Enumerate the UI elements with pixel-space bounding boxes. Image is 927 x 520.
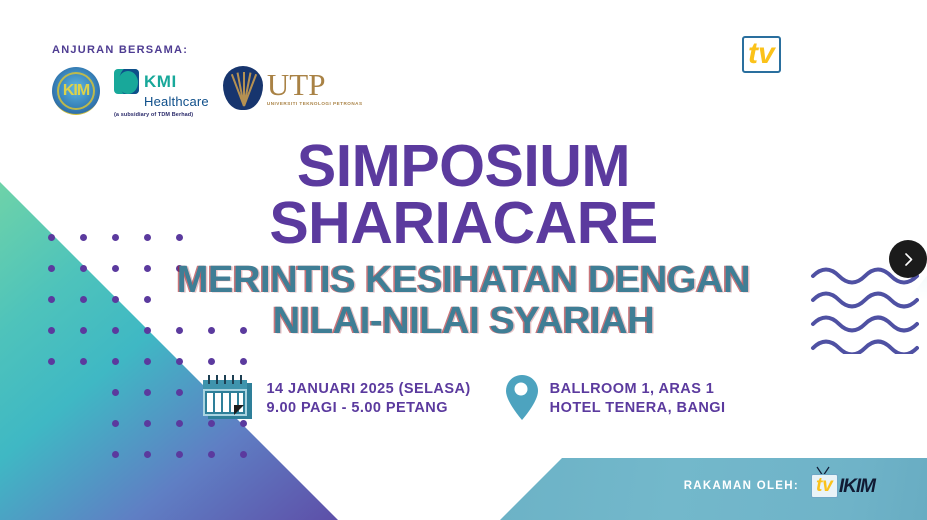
kmi-mark-icon — [114, 69, 139, 94]
tv-box: tv — [811, 474, 838, 498]
footer-credit-label: RAKAMAN OLEH: — [684, 480, 799, 492]
title-line-1: SIMPOSIUM — [0, 138, 927, 195]
event-venue-line-1: BALLROOM 1, ARAS 1 — [550, 380, 726, 399]
tvikim-logo-footer: tv IKIM — [811, 474, 875, 498]
organisers-label: ANJURAN BERSAMA: — [52, 44, 363, 56]
event-venue-item: BALLROOM 1, ARAS 1 HOTEL TENERA, BANGI — [505, 374, 726, 421]
tv-wordmark: tv — [816, 476, 833, 495]
subtitle-line-1: MERINTIS KESIHATAN DENGAN — [0, 260, 927, 300]
kmi-brand: KMI — [144, 73, 177, 90]
ikim-wordmark: IKIM — [783, 40, 842, 70]
kwsp-seal-logo: KIM — [52, 67, 100, 115]
utp-mark-icon — [223, 66, 263, 110]
event-date-text: 14 JANUARI 2025 (SELASA) 9.00 PAGI - 5.0… — [266, 374, 470, 418]
organisers-block: ANJURAN BERSAMA: KIM KMI Healthcare (a s… — [52, 44, 363, 118]
subtitle-line-2: NILAI-NILAI SYARIAH — [0, 301, 927, 341]
ikim-wordmark: IKIM — [839, 477, 875, 496]
headline-block: SIMPOSIUM SHARIACARE MERINTIS KESIHATAN … — [0, 138, 927, 341]
calendar-icon — [201, 374, 255, 421]
kmi-wordmark: Healthcare — [144, 95, 209, 109]
event-date-line-1: 14 JANUARI 2025 (SELASA) — [266, 380, 470, 399]
location-pin-icon — [505, 374, 539, 421]
title-line-2: SHARIACARE — [0, 195, 927, 252]
event-venue-line-2: HOTEL TENERA, BANGI — [550, 399, 726, 418]
footer-credit: RAKAMAN OLEH: tv IKIM — [684, 474, 875, 498]
tv-wordmark: tv — [748, 39, 775, 69]
event-date-item: 14 JANUARI 2025 (SELASA) 9.00 PAGI - 5.0… — [201, 374, 470, 421]
event-date-line-2: 9.00 PAGI - 5.00 PETANG — [266, 399, 470, 418]
seal-glyph: KIM — [52, 67, 100, 115]
promo-poster: ANJURAN BERSAMA: KIM KMI Healthcare (a s… — [0, 0, 927, 520]
tv-box: tv — [742, 36, 781, 73]
utp-subtext: UNIVERSITI TEKNOLOGI PETRONAS — [267, 101, 363, 106]
organiser-logo-row: KIM KMI Healthcare (a subsidiary of TDM … — [52, 65, 363, 118]
event-venue-text: BALLROOM 1, ARAS 1 HOTEL TENERA, BANGI — [550, 374, 726, 418]
event-info-row: 14 JANUARI 2025 (SELASA) 9.00 PAGI - 5.0… — [0, 374, 927, 421]
kmi-tagline: (a subsidiary of TDM Berhad) — [114, 112, 209, 118]
utp-logo: UTP UNIVERSITI TEKNOLOGI PETRONAS — [223, 66, 363, 110]
utp-letters: UTP — [267, 67, 326, 102]
kmi-healthcare-logo: KMI Healthcare (a subsidiary of TDM Berh… — [114, 69, 209, 118]
tvikim-logo-top: tv IKIM — [742, 36, 842, 73]
